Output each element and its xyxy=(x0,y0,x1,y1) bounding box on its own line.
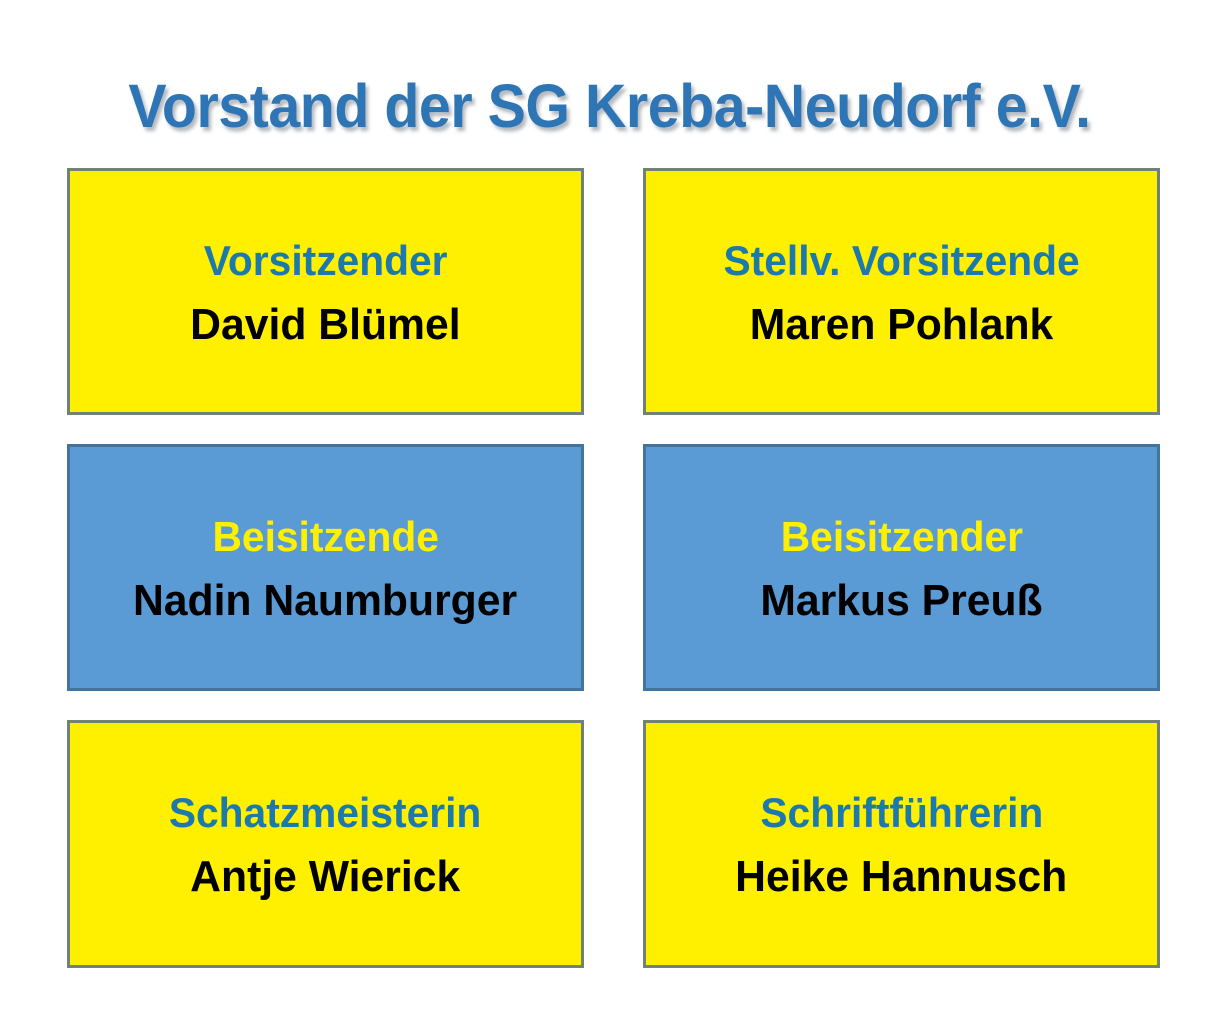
role-label: Beisitzende xyxy=(212,511,438,563)
role-label: Schatzmeisterin xyxy=(169,787,481,839)
role-label: Beisitzender xyxy=(780,511,1022,563)
member-name: Maren Pohlank xyxy=(750,297,1054,353)
member-name: Markus Preuß xyxy=(760,573,1042,629)
board-member-grid: Vorsitzender David Blümel Stellv. Vorsit… xyxy=(67,168,1160,968)
member-name: Heike Hannusch xyxy=(735,849,1067,905)
member-name: Antje Wierick xyxy=(190,849,460,905)
board-card-beisitzender[interactable]: Beisitzender Markus Preuß xyxy=(643,444,1160,691)
board-card-schriftfuehrerin[interactable]: Schriftführerin Heike Hannusch xyxy=(643,720,1160,968)
member-name: David Blümel xyxy=(190,297,460,353)
board-card-schatzmeisterin[interactable]: Schatzmeisterin Antje Wierick xyxy=(67,720,584,968)
board-card-vorsitzender[interactable]: Vorsitzender David Blümel xyxy=(67,168,584,415)
role-label: Schriftführerin xyxy=(760,787,1043,839)
role-label: Vorsitzender xyxy=(204,235,448,287)
role-label: Stellv. Vorsitzende xyxy=(723,235,1079,287)
page-title: Vorstand der SG Kreba-Neudorf e.V. xyxy=(37,67,1183,145)
member-name: Nadin Naumburger xyxy=(133,573,517,629)
board-card-stellv-vorsitzende[interactable]: Stellv. Vorsitzende Maren Pohlank xyxy=(643,168,1160,415)
board-card-beisitzende[interactable]: Beisitzende Nadin Naumburger xyxy=(67,444,584,691)
